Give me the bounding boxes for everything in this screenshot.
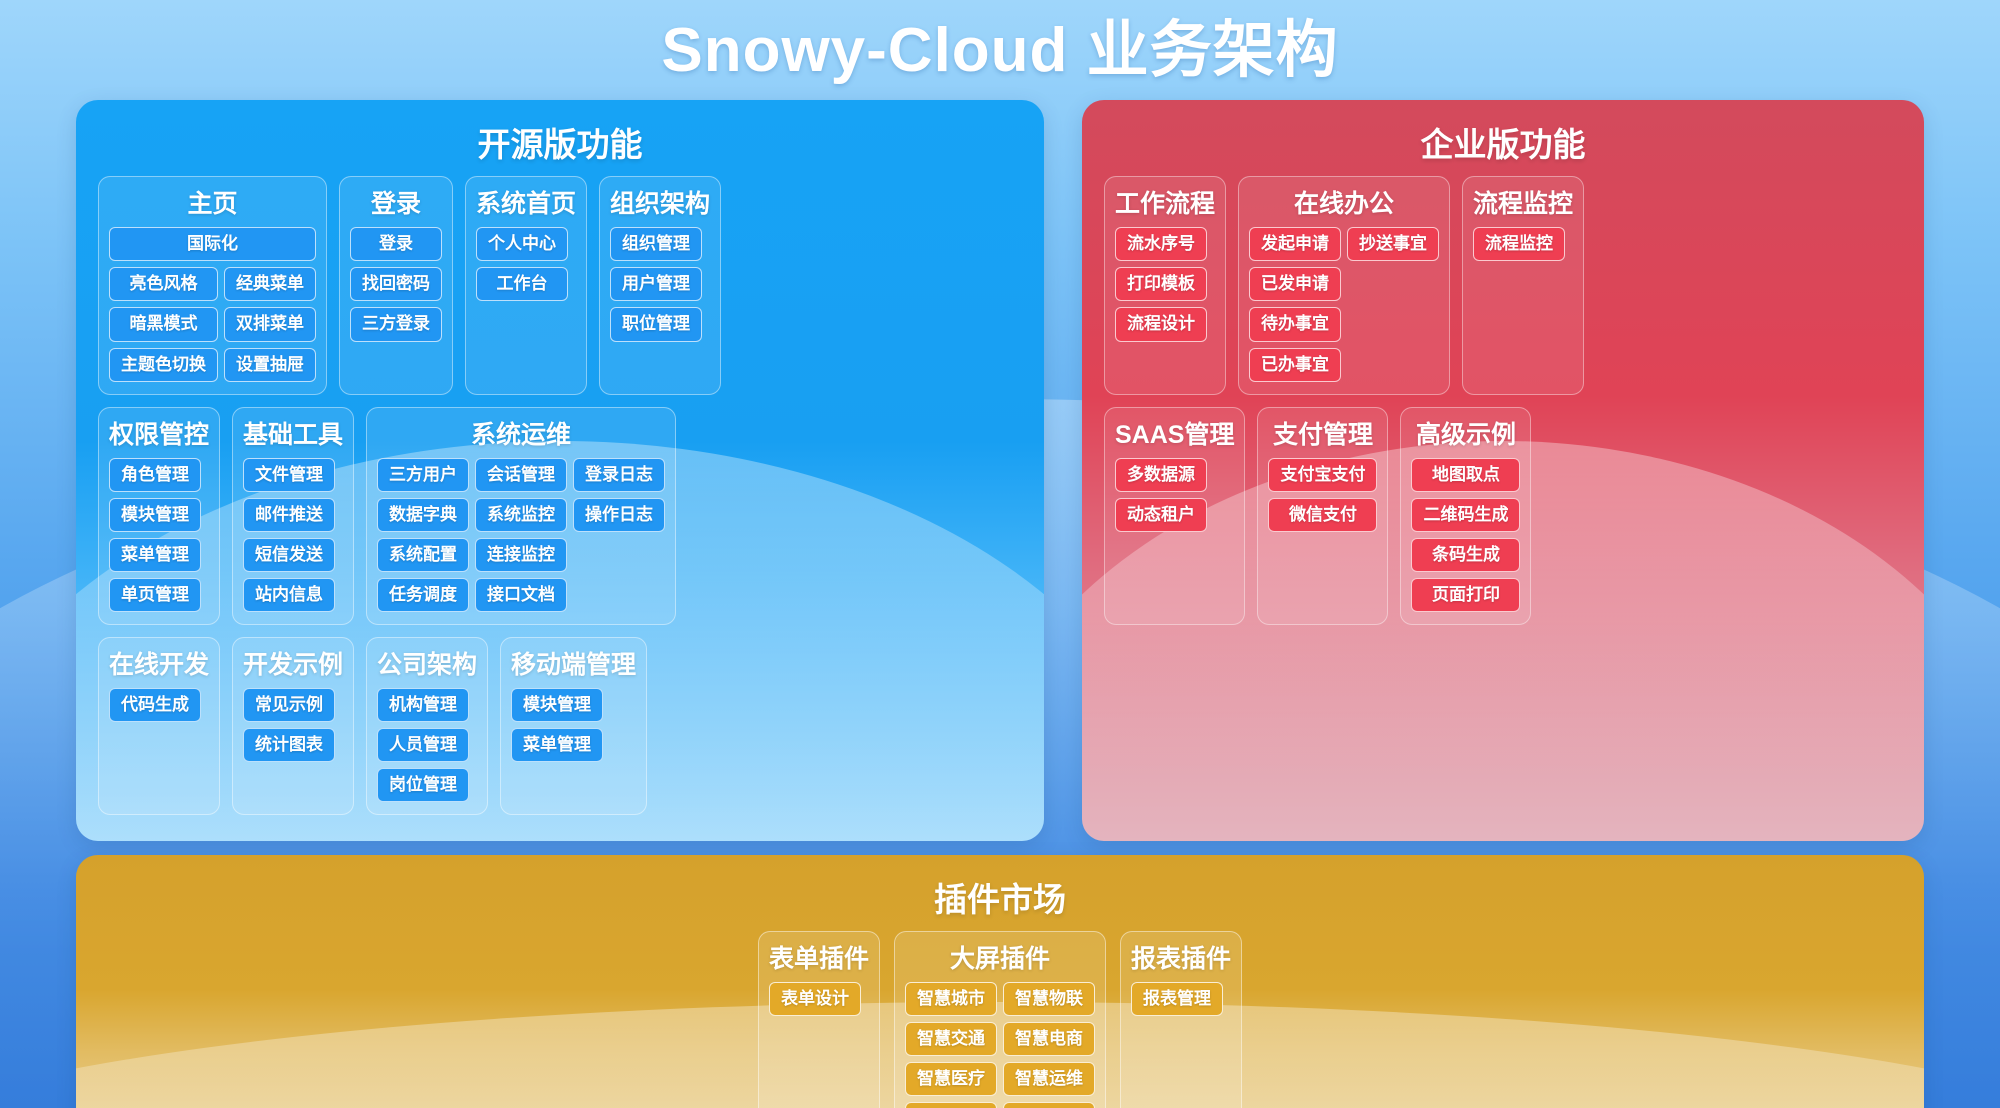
plugin-market-panel-title: 插件市场 [98, 873, 1902, 921]
feature-item[interactable]: 智慧电商 [1003, 1022, 1095, 1056]
main-panels-row: 开源版功能 主页国际化亮色风格经典菜单暗黑模式双排菜单主题色切换设置抽屉登录登录… [0, 88, 2000, 841]
feature-card: 报表插件报表管理 [1120, 931, 1242, 1108]
architecture-diagram-canvas: Snowy-Cloud 业务架构 开源版功能 主页国际化亮色风格经典菜单暗黑模式… [0, 0, 2000, 1108]
feature-card-title: 公司架构 [377, 645, 477, 681]
feature-card-title: 基础工具 [243, 415, 343, 451]
feature-item[interactable]: 数据字典 [377, 498, 469, 532]
feature-item[interactable]: 三方登录 [350, 307, 442, 341]
feature-item[interactable]: 智慧物联 [1003, 982, 1095, 1016]
feature-card: 系统运维三方用户会话管理登录日志数据字典系统监控操作日志系统配置连接监控任务调度… [366, 407, 676, 625]
feature-item[interactable]: 邮件推送 [243, 498, 335, 532]
feature-item[interactable]: 暗黑模式 [109, 307, 218, 341]
feature-item-list: 常见示例统计图表 [243, 688, 343, 762]
feature-card: SAAS管理多数据源动态租户 [1104, 407, 1245, 625]
feature-item[interactable]: 微信支付 [1268, 498, 1377, 532]
feature-item[interactable]: 机构管理 [377, 688, 469, 722]
feature-item-list: 流程监控 [1473, 227, 1573, 261]
feature-item[interactable]: 操作日志 [573, 498, 665, 532]
feature-item-list: 代码生成 [109, 688, 209, 722]
feature-card: 工作流程流水序号打印模板流程设计 [1104, 176, 1226, 394]
feature-item[interactable]: 页面打印 [1411, 578, 1520, 612]
open-source-panel: 开源版功能 主页国际化亮色风格经典菜单暗黑模式双排菜单主题色切换设置抽屉登录登录… [76, 100, 1044, 841]
feature-item-list: 地图取点二维码生成条码生成页面打印 [1411, 458, 1520, 612]
feature-item[interactable]: 代码生成 [109, 688, 201, 722]
feature-card: 登录登录找回密码三方登录 [339, 176, 453, 394]
feature-card-title: 在线办公 [1249, 184, 1439, 220]
feature-item[interactable]: 多数据源 [1115, 458, 1207, 492]
feature-item-list: 文件管理邮件推送短信发送站内信息 [243, 458, 343, 612]
feature-card: 组织架构组织管理用户管理职位管理 [599, 176, 721, 394]
feature-card: 大屏插件智慧城市智慧物联智慧交通智慧电商智慧医疗智慧运维智慧政务智慧金融 [894, 931, 1106, 1108]
feature-item[interactable]: 短信发送 [243, 538, 335, 572]
feature-item[interactable]: 连接监控 [475, 538, 567, 572]
feature-item[interactable]: 支付宝支付 [1268, 458, 1377, 492]
enterprise-row-2: SAAS管理多数据源动态租户支付管理支付宝支付微信支付高级示例地图取点二维码生成… [1104, 407, 1902, 625]
feature-item[interactable]: 已办事宜 [1249, 348, 1341, 382]
feature-item[interactable]: 条码生成 [1411, 538, 1520, 572]
feature-card-title: 主页 [109, 184, 316, 220]
feature-card-title: 组织架构 [610, 184, 710, 220]
feature-item[interactable]: 双排菜单 [224, 307, 316, 341]
feature-item[interactable]: 登录 [350, 227, 442, 261]
feature-item[interactable]: 登录日志 [573, 458, 665, 492]
feature-item-list: 流水序号打印模板流程设计 [1115, 227, 1215, 341]
open-source-row-1: 主页国际化亮色风格经典菜单暗黑模式双排菜单主题色切换设置抽屉登录登录找回密码三方… [98, 176, 1022, 394]
feature-item[interactable]: 用户管理 [610, 267, 702, 301]
feature-item[interactable]: 系统监控 [475, 498, 567, 532]
feature-item[interactable]: 接口文档 [475, 578, 567, 612]
feature-item[interactable]: 会话管理 [475, 458, 567, 492]
feature-card-title: SAAS管理 [1115, 415, 1234, 451]
page-title: Snowy-Cloud 业务架构 [0, 0, 2000, 88]
feature-item-list: 模块管理菜单管理 [511, 688, 636, 762]
feature-card: 主页国际化亮色风格经典菜单暗黑模式双排菜单主题色切换设置抽屉 [98, 176, 327, 394]
feature-item-list: 发起申请抄送事宜已发申请待办事宜已办事宜 [1249, 227, 1439, 381]
feature-item-list: 个人中心工作台 [476, 227, 576, 301]
feature-card: 流程监控流程监控 [1462, 176, 1584, 394]
feature-item-list: 组织管理用户管理职位管理 [610, 227, 710, 341]
feature-card-title: 系统运维 [377, 415, 665, 451]
feature-card-title: 表单插件 [769, 939, 869, 975]
feature-item[interactable]: 三方用户 [377, 458, 469, 492]
feature-item[interactable]: 设置抽屉 [224, 348, 316, 382]
open-source-row-2: 权限管控角色管理模块管理菜单管理单页管理基础工具文件管理邮件推送短信发送站内信息… [98, 407, 1022, 625]
feature-item[interactable]: 国际化 [109, 227, 316, 261]
feature-card: 高级示例地图取点二维码生成条码生成页面打印 [1400, 407, 1531, 625]
feature-item[interactable]: 流水序号 [1115, 227, 1207, 261]
feature-card-title: 系统首页 [476, 184, 576, 220]
feature-item[interactable]: 统计图表 [243, 728, 335, 762]
feature-item[interactable]: 地图取点 [1411, 458, 1520, 492]
feature-card-title: 登录 [350, 184, 442, 220]
feature-item[interactable]: 智慧金融 [1003, 1102, 1095, 1108]
feature-item-list: 多数据源动态租户 [1115, 458, 1234, 532]
feature-item[interactable]: 智慧城市 [905, 982, 997, 1016]
feature-item-list: 报表管理 [1131, 982, 1231, 1016]
feature-item-list: 智慧城市智慧物联智慧交通智慧电商智慧医疗智慧运维智慧政务智慧金融 [905, 982, 1095, 1108]
enterprise-panel-title: 企业版功能 [1104, 118, 1902, 166]
feature-item[interactable]: 发起申请 [1249, 227, 1341, 261]
feature-card: 表单插件表单设计 [758, 931, 880, 1108]
plugin-market-wrap: 插件市场 表单插件表单设计大屏插件智慧城市智慧物联智慧交通智慧电商智慧医疗智慧运… [0, 841, 2000, 1108]
feature-card: 支付管理支付宝支付微信支付 [1257, 407, 1388, 625]
feature-item[interactable]: 单页管理 [109, 578, 201, 612]
feature-item[interactable]: 智慧医疗 [905, 1062, 997, 1096]
feature-item-list: 国际化亮色风格经典菜单暗黑模式双排菜单主题色切换设置抽屉 [109, 227, 316, 381]
feature-item[interactable]: 找回密码 [350, 267, 442, 301]
plugin-market-panel: 插件市场 表单插件表单设计大屏插件智慧城市智慧物联智慧交通智慧电商智慧医疗智慧运… [76, 855, 1924, 1108]
feature-card-title: 工作流程 [1115, 184, 1215, 220]
feature-card-title: 流程监控 [1473, 184, 1573, 220]
feature-item-list: 三方用户会话管理登录日志数据字典系统监控操作日志系统配置连接监控任务调度接口文档 [377, 458, 665, 612]
feature-card-title: 在线开发 [109, 645, 209, 681]
feature-card: 基础工具文件管理邮件推送短信发送站内信息 [232, 407, 354, 625]
enterprise-panel: 企业版功能 工作流程流水序号打印模板流程设计在线办公发起申请抄送事宜已发申请待办… [1082, 100, 1924, 841]
feature-item[interactable]: 智慧交通 [905, 1022, 997, 1056]
feature-card-title: 高级示例 [1411, 415, 1520, 451]
open-source-panel-title: 开源版功能 [98, 118, 1022, 166]
feature-card: 系统首页个人中心工作台 [465, 176, 587, 394]
feature-item-list: 支付宝支付微信支付 [1268, 458, 1377, 532]
feature-item[interactable]: 人员管理 [377, 728, 469, 762]
feature-item[interactable]: 菜单管理 [511, 728, 603, 762]
feature-item[interactable]: 职位管理 [610, 307, 702, 341]
feature-item-list: 角色管理模块管理菜单管理单页管理 [109, 458, 209, 612]
feature-card: 在线办公发起申请抄送事宜已发申请待办事宜已办事宜 [1238, 176, 1450, 394]
feature-item[interactable]: 打印模板 [1115, 267, 1207, 301]
feature-item[interactable]: 表单设计 [769, 982, 861, 1016]
feature-item[interactable]: 智慧运维 [1003, 1062, 1095, 1096]
feature-item[interactable]: 系统配置 [377, 538, 469, 572]
feature-card: 在线开发代码生成 [98, 637, 220, 815]
feature-card-title: 大屏插件 [905, 939, 1095, 975]
feature-item-list: 登录找回密码三方登录 [350, 227, 442, 341]
feature-item[interactable]: 常见示例 [243, 688, 335, 722]
feature-item[interactable]: 主题色切换 [109, 348, 218, 382]
feature-item[interactable]: 流程监控 [1473, 227, 1565, 261]
feature-card-title: 移动端管理 [511, 645, 636, 681]
feature-item[interactable]: 经典菜单 [224, 267, 316, 301]
feature-card: 移动端管理模块管理菜单管理 [500, 637, 647, 815]
plugin-market-cards: 表单插件表单设计大屏插件智慧城市智慧物联智慧交通智慧电商智慧医疗智慧运维智慧政务… [98, 931, 1902, 1108]
feature-card-title: 权限管控 [109, 415, 209, 451]
feature-item[interactable]: 动态租户 [1115, 498, 1207, 532]
feature-item[interactable]: 岗位管理 [377, 768, 469, 802]
feature-item[interactable]: 抄送事宜 [1347, 227, 1439, 261]
feature-item[interactable]: 任务调度 [377, 578, 469, 612]
feature-item[interactable]: 流程设计 [1115, 307, 1207, 341]
feature-item[interactable]: 角色管理 [109, 458, 201, 492]
feature-item[interactable]: 智慧政务 [905, 1102, 997, 1108]
feature-card-title: 支付管理 [1268, 415, 1377, 451]
feature-card: 公司架构机构管理人员管理岗位管理 [366, 637, 488, 815]
feature-item[interactable]: 模块管理 [511, 688, 603, 722]
open-source-row-3: 在线开发代码生成开发示例常见示例统计图表公司架构机构管理人员管理岗位管理移动端管… [98, 637, 1022, 815]
feature-item[interactable]: 模块管理 [109, 498, 201, 532]
feature-item[interactable]: 工作台 [476, 267, 568, 301]
feature-item[interactable]: 文件管理 [243, 458, 335, 492]
feature-card-title: 开发示例 [243, 645, 343, 681]
feature-item-list: 表单设计 [769, 982, 869, 1016]
feature-item[interactable]: 亮色风格 [109, 267, 218, 301]
feature-card: 开发示例常见示例统计图表 [232, 637, 354, 815]
feature-item[interactable]: 菜单管理 [109, 538, 201, 572]
feature-item[interactable]: 组织管理 [610, 227, 702, 261]
enterprise-row-1: 工作流程流水序号打印模板流程设计在线办公发起申请抄送事宜已发申请待办事宜已办事宜… [1104, 176, 1902, 394]
feature-item[interactable]: 站内信息 [243, 578, 335, 612]
feature-card: 权限管控角色管理模块管理菜单管理单页管理 [98, 407, 220, 625]
feature-item[interactable]: 个人中心 [476, 227, 568, 261]
feature-item-list: 机构管理人员管理岗位管理 [377, 688, 477, 802]
feature-item[interactable]: 已发申请 [1249, 267, 1341, 301]
feature-item[interactable]: 待办事宜 [1249, 307, 1341, 341]
feature-card-title: 报表插件 [1131, 939, 1231, 975]
feature-item[interactable]: 二维码生成 [1411, 498, 1520, 532]
feature-item[interactable]: 报表管理 [1131, 982, 1223, 1016]
